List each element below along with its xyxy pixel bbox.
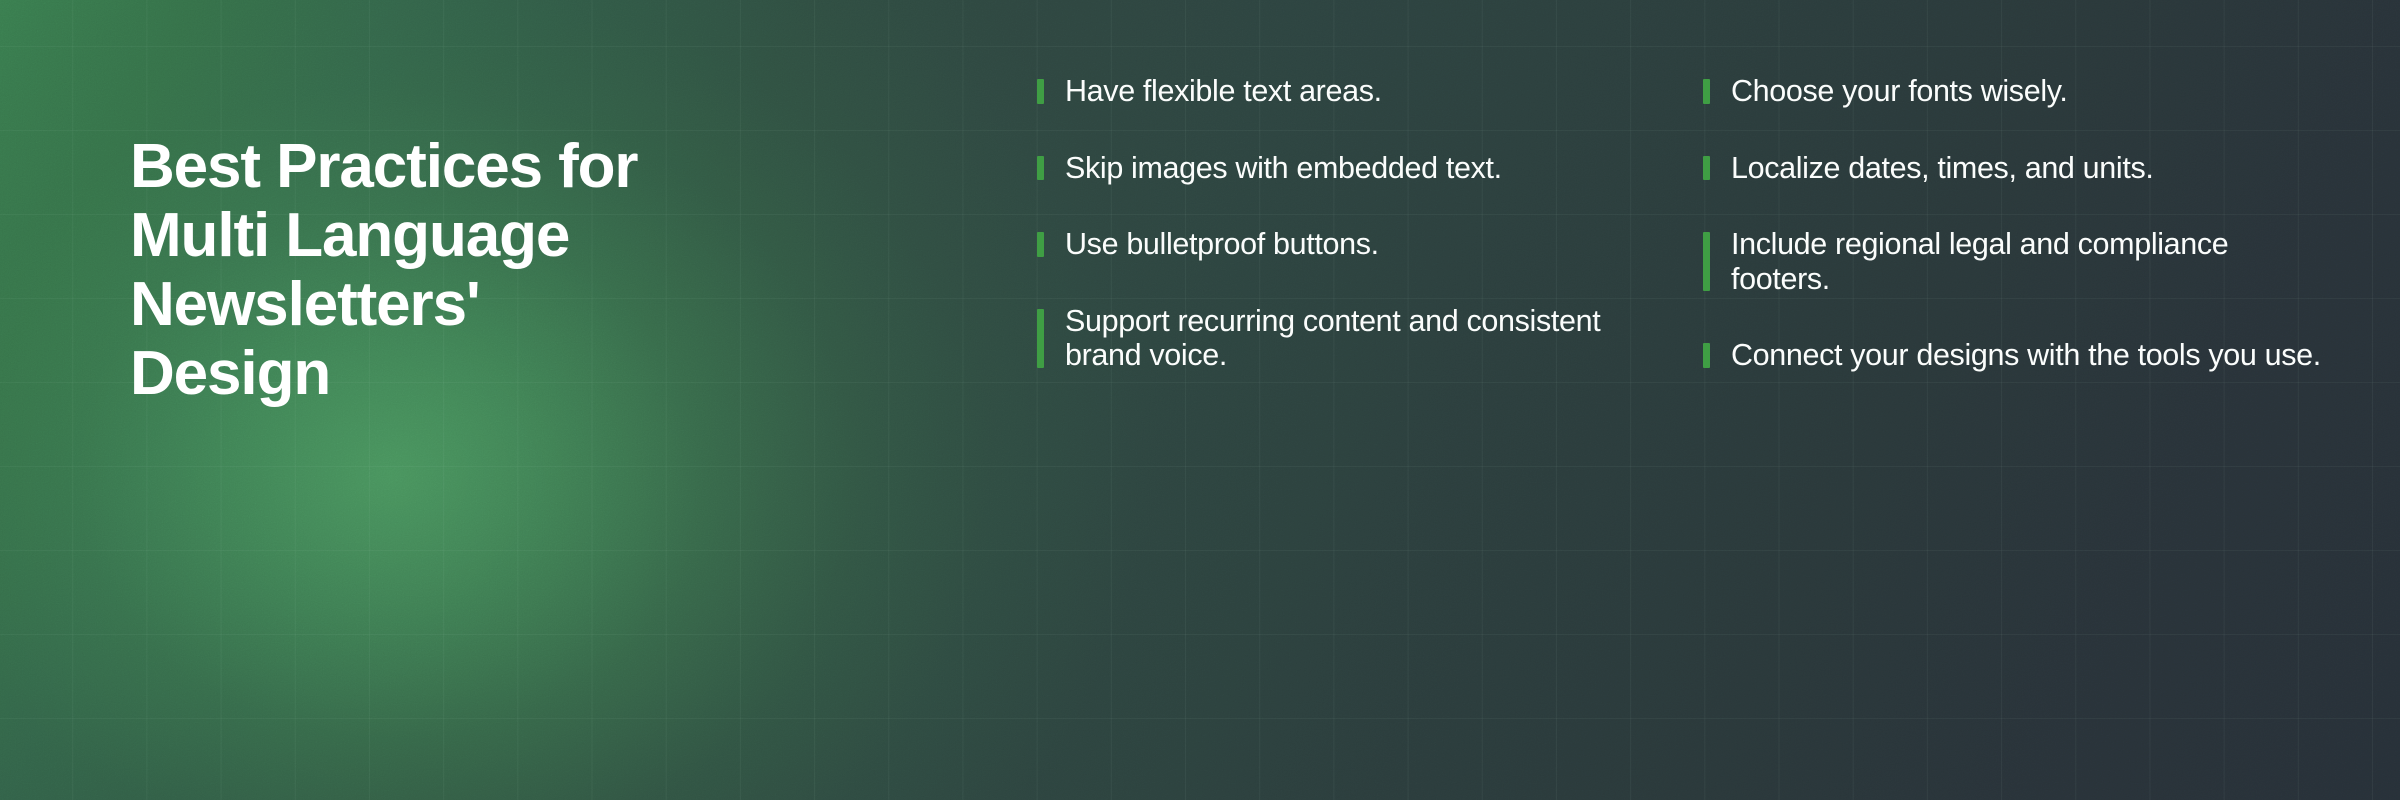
title-line-2: Multi Language bbox=[130, 201, 960, 270]
accent-bar-icon bbox=[1703, 232, 1710, 291]
tip-item: Connect your designs with the tools you … bbox=[1703, 338, 2323, 373]
accent-bar-icon bbox=[1037, 309, 1044, 368]
tip-text: Have flexible text areas. bbox=[1065, 74, 1637, 109]
tip-item: Localize dates, times, and units. bbox=[1703, 151, 2323, 186]
title-line-3: Newsletters' bbox=[130, 270, 960, 339]
tip-item: Choose your fonts wisely. bbox=[1703, 74, 2323, 109]
tip-item: Have flexible text areas. bbox=[1037, 74, 1637, 109]
tips-column-left: Have flexible text areas. Skip images wi… bbox=[1037, 74, 1637, 373]
tip-item: Include regional legal and compliance fo… bbox=[1703, 227, 2323, 296]
title-line-4: Design bbox=[130, 339, 960, 408]
tip-text: Connect your designs with the tools you … bbox=[1731, 338, 2323, 373]
accent-bar-icon bbox=[1037, 232, 1044, 257]
tip-text: Support recurring content and consistent… bbox=[1065, 304, 1637, 373]
accent-bar-icon bbox=[1037, 79, 1044, 104]
tip-text: Choose your fonts wisely. bbox=[1731, 74, 2323, 109]
tip-item: Skip images with embedded text. bbox=[1037, 151, 1637, 186]
tips-column-right: Choose your fonts wisely. Localize dates… bbox=[1703, 74, 2323, 373]
accent-bar-icon bbox=[1703, 156, 1710, 181]
tip-item: Use bulletproof buttons. bbox=[1037, 227, 1637, 262]
tip-text: Include regional legal and compliance fo… bbox=[1731, 227, 2323, 296]
tip-text: Skip images with embedded text. bbox=[1065, 151, 1637, 186]
slide-canvas: Best Practices for Multi Language Newsle… bbox=[0, 0, 2400, 800]
accent-bar-icon bbox=[1037, 156, 1044, 181]
title-line-1: Best Practices for bbox=[130, 132, 960, 201]
page-title: Best Practices for Multi Language Newsle… bbox=[130, 132, 960, 408]
slide-content: Best Practices for Multi Language Newsle… bbox=[0, 0, 2400, 800]
tip-item: Support recurring content and consistent… bbox=[1037, 304, 1637, 373]
accent-bar-icon bbox=[1703, 79, 1710, 104]
accent-bar-icon bbox=[1703, 343, 1710, 368]
tip-text: Localize dates, times, and units. bbox=[1731, 151, 2323, 186]
tip-text: Use bulletproof buttons. bbox=[1065, 227, 1637, 262]
